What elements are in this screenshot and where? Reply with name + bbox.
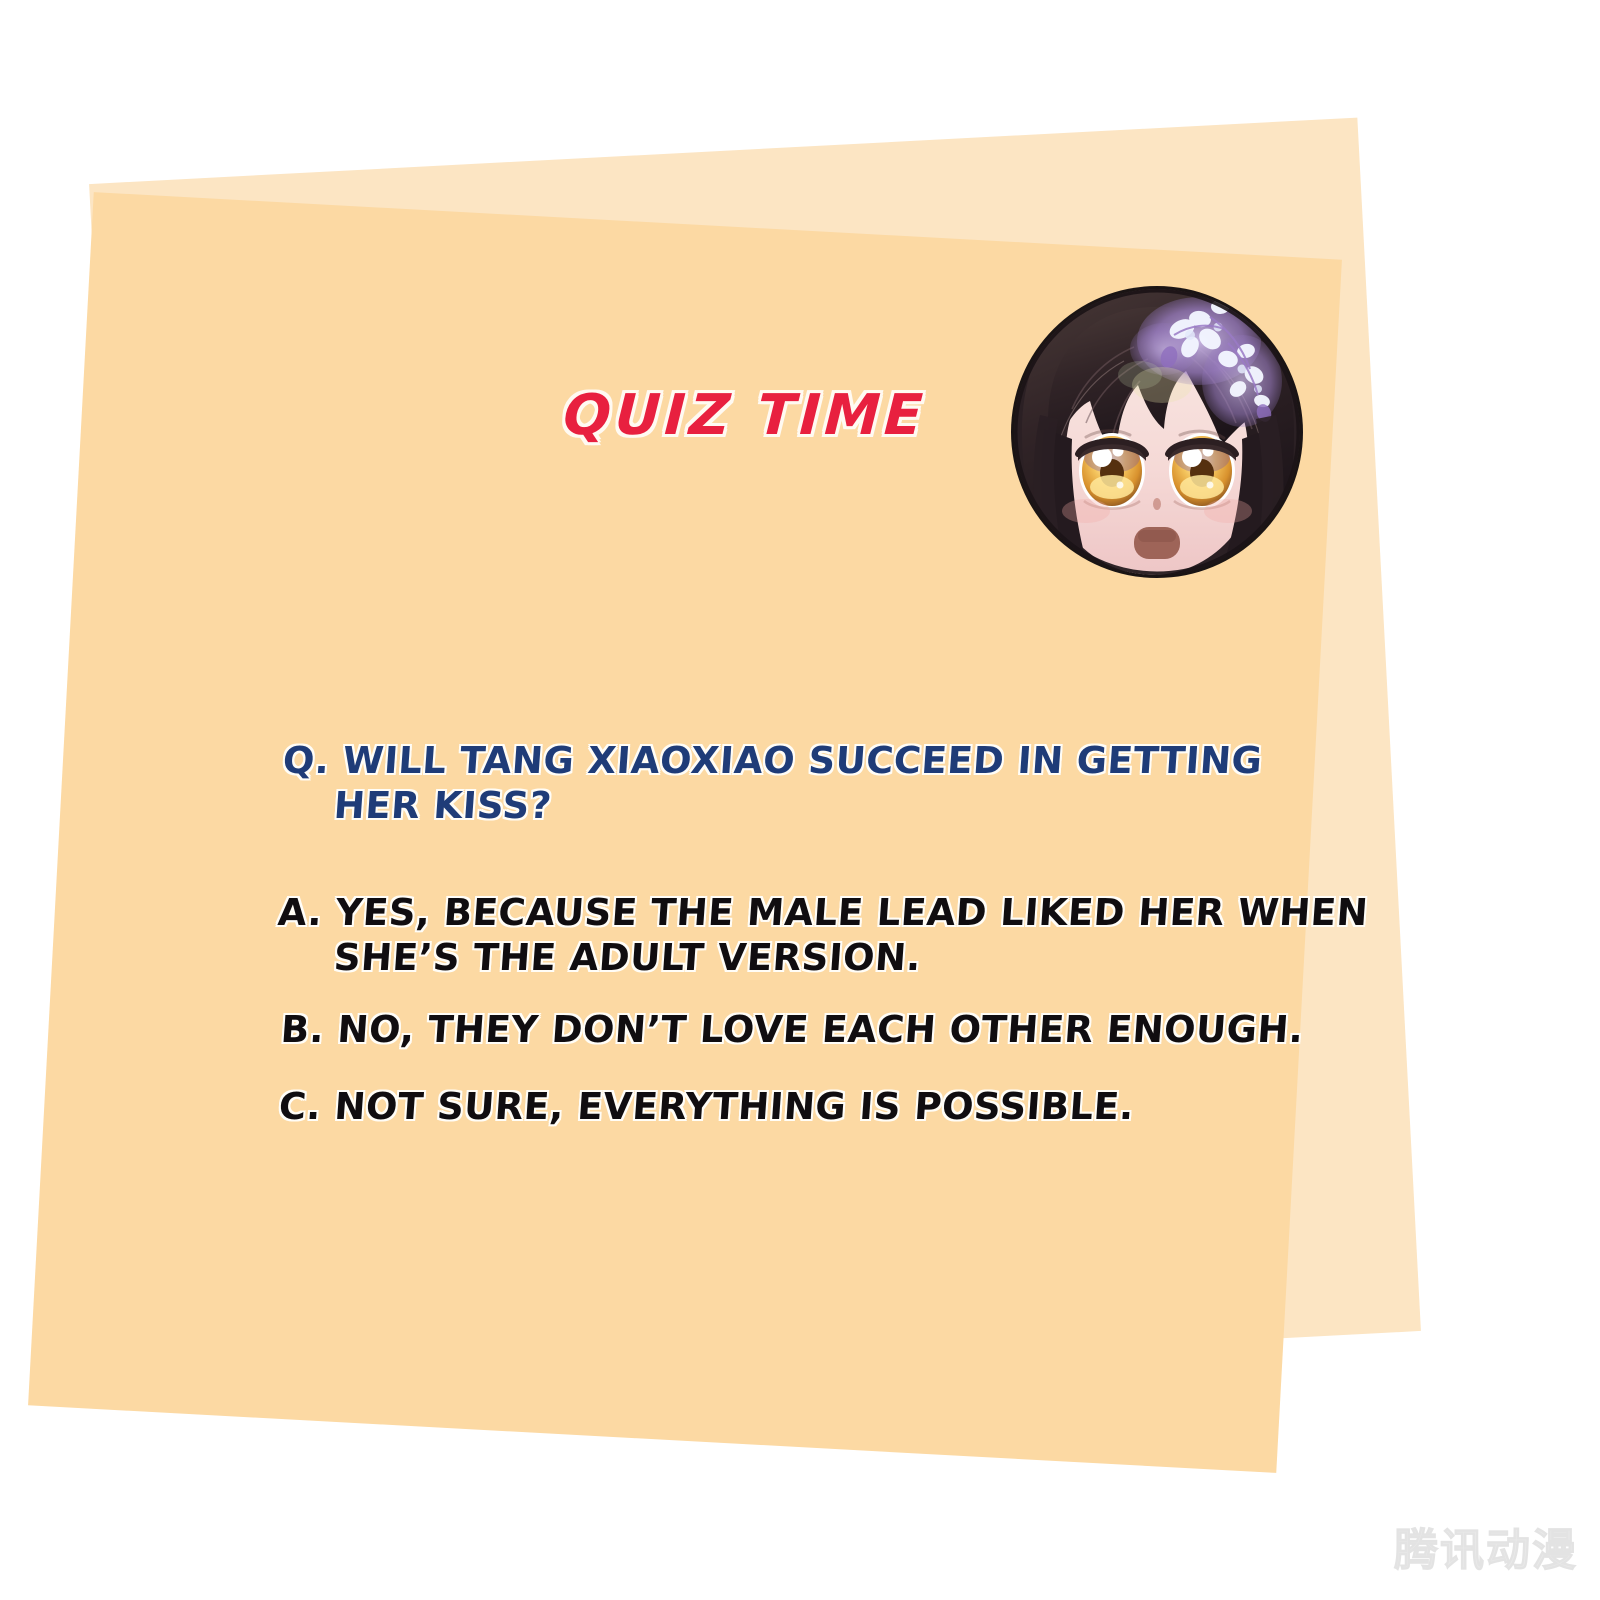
chibi-girl-avatar-icon bbox=[1014, 289, 1300, 575]
tencent-comics-watermark: 腾讯动漫 bbox=[1394, 1514, 1578, 1578]
quiz-question-line-2: HER KISS? bbox=[332, 783, 553, 828]
quiz-option-b[interactable]: B. NO, THEY DON’T LOVE EACH OTHER ENOUGH… bbox=[279, 1007, 1305, 1052]
quiz-panel: QUIZ TIME bbox=[0, 0, 1600, 1600]
quiz-question-line-1: Q. WILL TANG XIAOXIAO SUCCEED IN GETTING bbox=[281, 738, 1264, 783]
quiz-option-a-line-1[interactable]: A. YES, BECAUSE THE MALE LEAD LIKED HER … bbox=[276, 890, 1369, 935]
quiz-option-c[interactable]: C. NOT SURE, EVERYTHING IS POSSIBLE. bbox=[277, 1084, 1135, 1129]
quiz-option-a-line-2[interactable]: SHE’S THE ADULT VERSION. bbox=[332, 935, 922, 980]
